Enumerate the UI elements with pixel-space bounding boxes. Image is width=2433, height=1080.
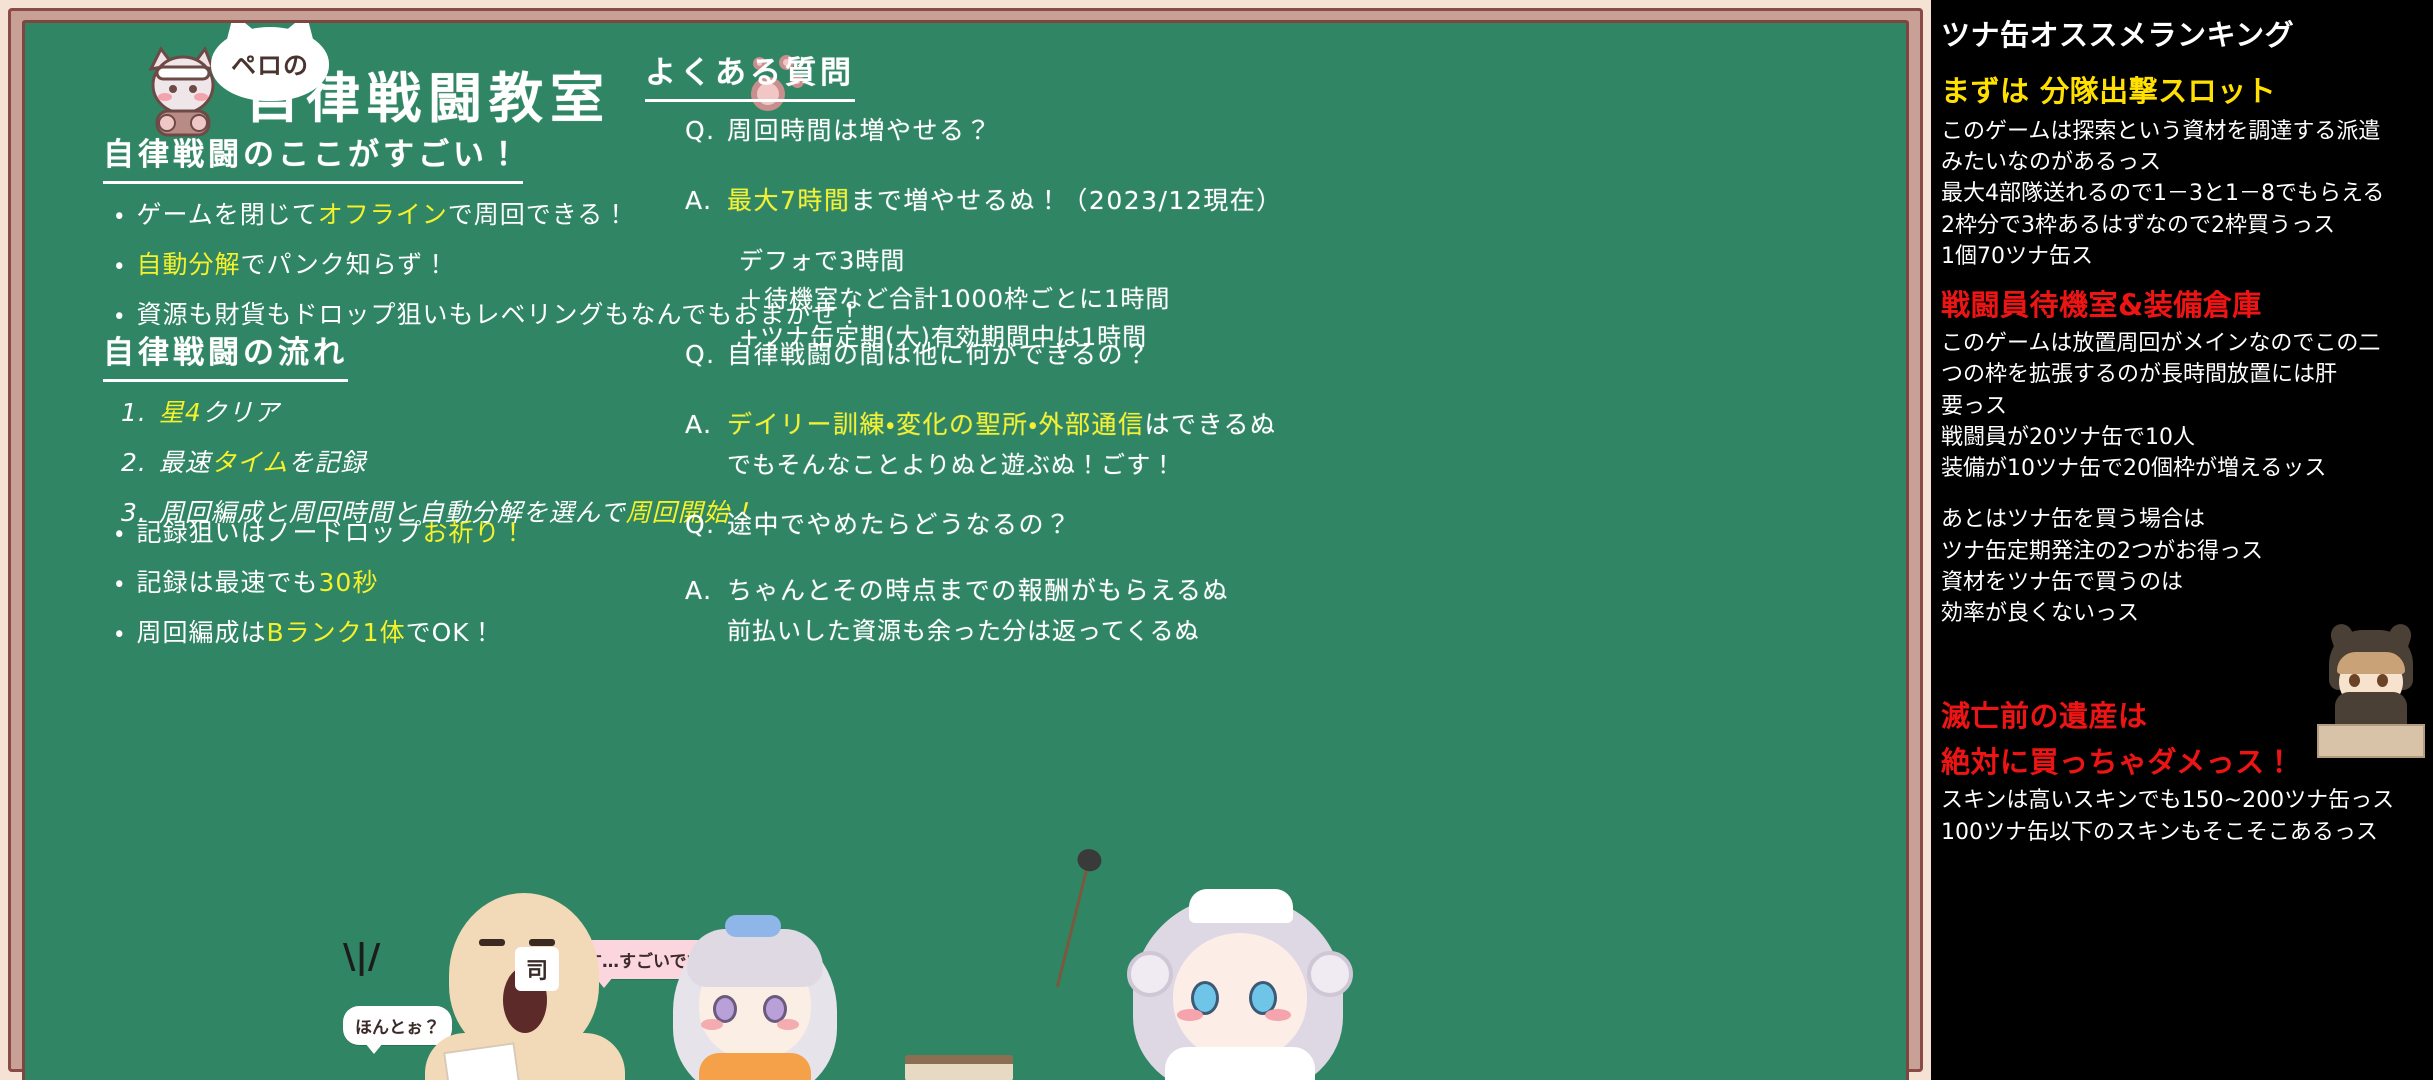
teacher-eye-left bbox=[479, 939, 505, 946]
faq-answer: A.ちゃんとその時点までの報酬がもらえるぬ bbox=[685, 571, 1229, 607]
teacher-character: 司 bbox=[425, 893, 625, 1080]
list-item: ・記録狙いはノードロップお祈り！ bbox=[115, 513, 527, 549]
q-text: 自律戦闘の間は他に何ができるの？ bbox=[727, 340, 1151, 369]
flow-notes-list: ・記録狙いはノードロップお祈り！ ・記録は最速でも30秒 ・周回編成はBランク1… bbox=[115, 513, 527, 663]
q-text: 周回時間は増やせる？ bbox=[727, 116, 992, 145]
q-tag: Q. bbox=[685, 340, 727, 369]
title-bubble-text: ペロの bbox=[231, 46, 309, 82]
sidebar-line: ツナ缶定期発注の2つがお得っス bbox=[1941, 536, 2425, 567]
sidebar-line: みたいなのがあるっス bbox=[1941, 147, 2425, 178]
bullet-marker: ・ bbox=[115, 300, 125, 329]
text-highlight: 30秒 bbox=[319, 568, 379, 597]
sidebar-block: あとはツナ缶を買う場合は ツナ缶定期発注の2つがお得っス 資材をツナ缶で買うのは… bbox=[1941, 504, 2425, 629]
text-highlight: 自動分解 bbox=[137, 250, 241, 279]
faq-question: Q.自律戦闘の間は他に何ができるの？ bbox=[685, 335, 1151, 371]
student-blush-left bbox=[701, 1019, 723, 1030]
text-highlight: デイリー訓練・変化の聖所・外部通信 bbox=[727, 410, 1145, 439]
sidebar-line: 戦闘員が20ツナ缶で10人 bbox=[1941, 422, 2425, 453]
surprise-flash-icon: \|/ bbox=[343, 937, 380, 977]
teacher-forehead-plate: 司 bbox=[515, 947, 559, 991]
sidebar-block-heading: 戦闘員待機室&装備倉庫 bbox=[1941, 282, 2425, 324]
a-tag: A. bbox=[685, 186, 727, 215]
sidebar-line: つの枠を拡張するのが長時間放置には肝 bbox=[1941, 359, 2425, 390]
text-highlight: タイム bbox=[211, 448, 289, 477]
sidebar-line: 装備が10ツナ缶で20個枠が増えるッス bbox=[1941, 453, 2425, 484]
blackboard-surface: ペロの 自律戦闘教室 自律戦闘のここがすごい！ ・ゲームを閉じてオフラインで周回… bbox=[22, 20, 1909, 1080]
faq-answer: A.最大7時間まで増やせるぬ！（2023/12現在） bbox=[685, 181, 1283, 217]
sidebar-block: まずは 分隊出撃スロット このゲームは探索という資材を調達する派遣 みたいなのが… bbox=[1941, 68, 2425, 272]
student-collar bbox=[699, 1053, 811, 1080]
text-post: まで増やせるぬ！（2023/12現在） bbox=[850, 186, 1282, 215]
bullet-marker: ・ bbox=[115, 250, 125, 279]
maid-blush-right bbox=[1265, 1009, 1291, 1021]
text-highlight: 最大7時間 bbox=[727, 186, 850, 215]
list-item: ・周回編成はBランク1体でOK！ bbox=[115, 613, 527, 649]
text-highlight: 星4 bbox=[159, 398, 202, 427]
maid-dress bbox=[1165, 1047, 1315, 1080]
sidebar-line: あとはツナ缶を買う場合は bbox=[1941, 504, 2425, 535]
sidebar-spacer bbox=[1941, 484, 2425, 504]
faq-question: Q.周回時間は増やせる？ bbox=[685, 111, 992, 147]
maid-blush-left bbox=[1177, 1009, 1203, 1021]
list-item: 2.最速タイムを記録 bbox=[121, 443, 756, 479]
list-item: ・記録は最速でも30秒 bbox=[115, 563, 527, 599]
q-text: 途中でやめたらどうなるの？ bbox=[727, 510, 1072, 539]
q-tag: Q. bbox=[685, 116, 727, 145]
faq-subline: ＋待機室など合計1000枠ごとに1時間 bbox=[739, 279, 1170, 314]
section-heading-strengths: 自律戦闘のここがすごい！ bbox=[103, 129, 523, 184]
faq-subline: 前払いした資源も余った分は返ってくるぬ bbox=[727, 611, 1200, 646]
text-highlight: Bランク1体 bbox=[267, 618, 406, 647]
step-number: 2. bbox=[121, 448, 147, 477]
sidebar-line: 1個70ツナ缶ス bbox=[1941, 241, 2425, 272]
text-highlight: お祈り！ bbox=[423, 518, 527, 547]
faq-question: Q.途中でやめたらどうなるの？ bbox=[685, 505, 1072, 541]
a-tag: A. bbox=[685, 576, 727, 605]
sidebar-line: このゲームは放置周回がメインなのでこの二 bbox=[1941, 328, 2425, 359]
sidebar-title: ツナ缶オススメランキング bbox=[1941, 12, 2425, 54]
bullet-marker: ・ bbox=[115, 568, 125, 597]
bullet-marker: ・ bbox=[115, 518, 125, 547]
text-pre: 最速 bbox=[159, 448, 211, 477]
page-root: ペロの 自律戦闘教室 自律戦闘のここがすごい！ ・ゲームを閉じてオフラインで周回… bbox=[0, 0, 2433, 1080]
text-post: でOK！ bbox=[406, 618, 496, 647]
student-blush-right bbox=[777, 1019, 799, 1030]
sidebar-line: 資材をツナ缶で買うのは bbox=[1941, 567, 2425, 598]
chibi-bangs bbox=[2337, 652, 2405, 674]
chalk-eraser-icon bbox=[905, 1055, 1013, 1080]
text-pre: 記録狙いはノードロップ bbox=[137, 518, 423, 547]
student-character bbox=[665, 907, 845, 1080]
text-pre: 周回編成は bbox=[137, 618, 267, 647]
sidebar-line: 要っス bbox=[1941, 391, 2425, 422]
bullet-marker: ・ bbox=[115, 200, 125, 229]
a-tag: A. bbox=[685, 410, 727, 439]
text-post: でパンク知らず！ bbox=[241, 250, 450, 279]
sidebar-line: このゲームは探索という資材を調達する派遣 bbox=[1941, 116, 2425, 147]
text-highlight: オフライン bbox=[318, 200, 448, 229]
q-tag: Q. bbox=[685, 510, 727, 539]
pointer-tip-icon bbox=[1075, 847, 1104, 874]
chibi-box bbox=[2317, 724, 2425, 758]
title-speech-bubble: ペロの bbox=[211, 27, 329, 101]
faq-subline: でもそんなことよりぬと遊ぶぬ！ごす！ bbox=[727, 445, 1176, 480]
text-pre: 記録は最速でも bbox=[137, 568, 319, 597]
pointer-stick bbox=[1056, 865, 1089, 988]
faq-answer: A.デイリー訓練・変化の聖所・外部通信はできるぬ bbox=[685, 405, 1277, 441]
tuna-ranking-sidebar: ツナ缶オススメランキング まずは 分隊出撃スロット このゲームは探索という資材を… bbox=[1931, 0, 2433, 1080]
section-heading-flow: 自律戦闘の流れ bbox=[103, 327, 348, 382]
maid-headdress bbox=[1189, 889, 1293, 923]
student-bangs bbox=[687, 929, 823, 987]
text-post: クリア bbox=[202, 398, 280, 427]
text-post: で周回できる！ bbox=[448, 200, 630, 229]
maid-ear-right bbox=[1307, 951, 1353, 997]
text-post: はできるぬ bbox=[1145, 410, 1277, 439]
step-number: 1. bbox=[121, 398, 147, 427]
text-pre: ゲームを閉じて bbox=[137, 200, 318, 229]
bullet-marker: ・ bbox=[115, 618, 125, 647]
chibi-character-icon bbox=[2315, 630, 2427, 758]
chibi-eye-left bbox=[2349, 674, 2360, 687]
sidebar-line: 2枠分で3枠あるはずなので2枠買うっス bbox=[1941, 210, 2425, 241]
sidebar-line: 最大4部隊送れるので1－3と1－8でもらえる bbox=[1941, 178, 2425, 209]
pero-mascot-icon: ペロの bbox=[135, 41, 231, 137]
section-heading-faq: よくある質問 bbox=[645, 47, 855, 102]
faq-subline: デフォで3時間 bbox=[739, 241, 905, 276]
text-post: を記録 bbox=[288, 448, 366, 477]
sidebar-block: 戦闘員待機室&装備倉庫 このゲームは放置周回がメインなのでこの二 つの枠を拡張す… bbox=[1941, 282, 2425, 484]
text-pre: ちゃんとその時点までの報酬がもらえるぬ bbox=[727, 576, 1229, 605]
maid-ear-left bbox=[1127, 951, 1173, 997]
list-item: 1.星4クリア bbox=[121, 393, 756, 429]
sidebar-line: 100ツナ缶以下のスキンもそこそこあるっス bbox=[1941, 817, 2425, 848]
board-title-group: ペロの 自律戦闘教室 bbox=[135, 41, 611, 137]
chibi-eye-right bbox=[2377, 674, 2388, 687]
teacher-eye-right bbox=[529, 939, 555, 946]
blackboard-area: ペロの 自律戦闘教室 自律戦闘のここがすごい！ ・ゲームを閉じてオフラインで周回… bbox=[0, 0, 1931, 1080]
sidebar-line: スキンは高いスキンでも150~200ツナ缶っス bbox=[1941, 785, 2425, 816]
sidebar-line: 効率が良くないっス bbox=[1941, 598, 2425, 629]
maid-character bbox=[1125, 885, 1355, 1080]
sidebar-block-heading: まずは 分隊出撃スロット bbox=[1941, 68, 2425, 110]
student-ribbon bbox=[725, 915, 781, 937]
